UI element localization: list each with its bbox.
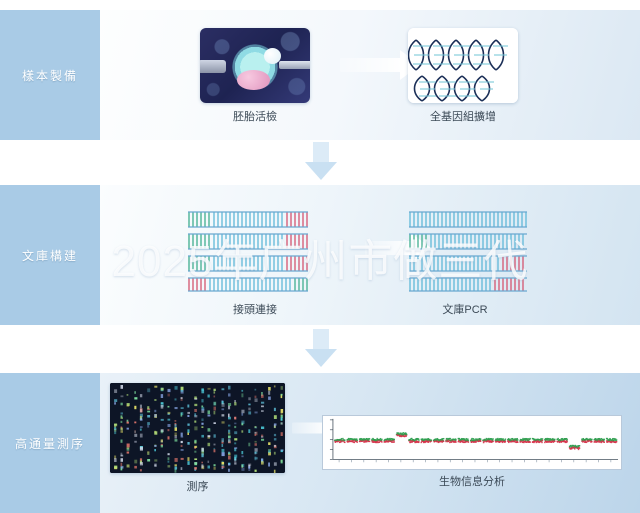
gap-row2-row3 [0,325,640,373]
cnv-chart [322,415,622,470]
step-library-pcr[interactable]: 文庫PCR [400,201,630,296]
connector-row2-row3 [305,329,337,371]
step-whole-genome-amplification[interactable]: 全基因組擴增 [408,28,518,103]
caption-whole-genome-amplification: 全基因組擴增 [408,108,518,124]
caption-library-pcr: 文庫PCR [370,301,560,317]
workflow-row-sequencing: 高通量測序 測序 [0,373,640,513]
row-body-sequencing: 測序 生物信息分析 [100,373,640,513]
embryo-image [200,28,310,103]
row-label-text: 樣本製備 [22,67,78,84]
step-embryo-biopsy[interactable]: 胚胎活檢 [200,28,310,103]
step-sequencing[interactable]: 測序 [110,383,285,473]
row-label-sequencing: 高通量測序 [0,373,100,513]
dna-helix-icon [408,28,518,103]
sequencing-gel-illustration [110,383,285,473]
workflow-row-sample-prep: 樣本製備 胚胎活檢 [0,10,640,140]
embryo-illustration [200,28,310,103]
connector-row1-row2 [305,142,337,182]
sequencing-gel-image [110,383,285,473]
workflow-row-library-construction: 文庫構建 [0,185,640,325]
row-label-library-construction: 文庫構建 [0,185,100,325]
caption-bioinformatics-analysis: 生物信息分析 [322,473,622,489]
dna-helix-image [408,28,518,103]
inner-cell-mass [237,70,270,90]
row-body-sample-prep: 胚胎活檢 [100,10,640,140]
holding-pipette-icon [200,60,226,74]
gap-row1-row2 [0,140,640,185]
row-label-text: 文庫構建 [22,247,78,264]
row-label-sample-prep: 樣本製備 [0,10,100,140]
cnv-plot-svg [323,416,621,469]
row-body-library-construction: 接頭連接 [100,185,640,325]
row-label-text: 高通量測序 [15,435,85,452]
dna-ladder-pcr [400,201,630,296]
workflow-figure: 樣本製備 胚胎活檢 [0,0,640,513]
step-bioinformatics-analysis[interactable]: 生物信息分析 [322,415,622,470]
biopsy-needle-icon [279,61,310,69]
caption-adapter-ligation: 接頭連接 [160,301,350,317]
caption-sequencing: 測序 [110,478,285,494]
caption-embryo-biopsy: 胚胎活檢 [200,108,310,124]
